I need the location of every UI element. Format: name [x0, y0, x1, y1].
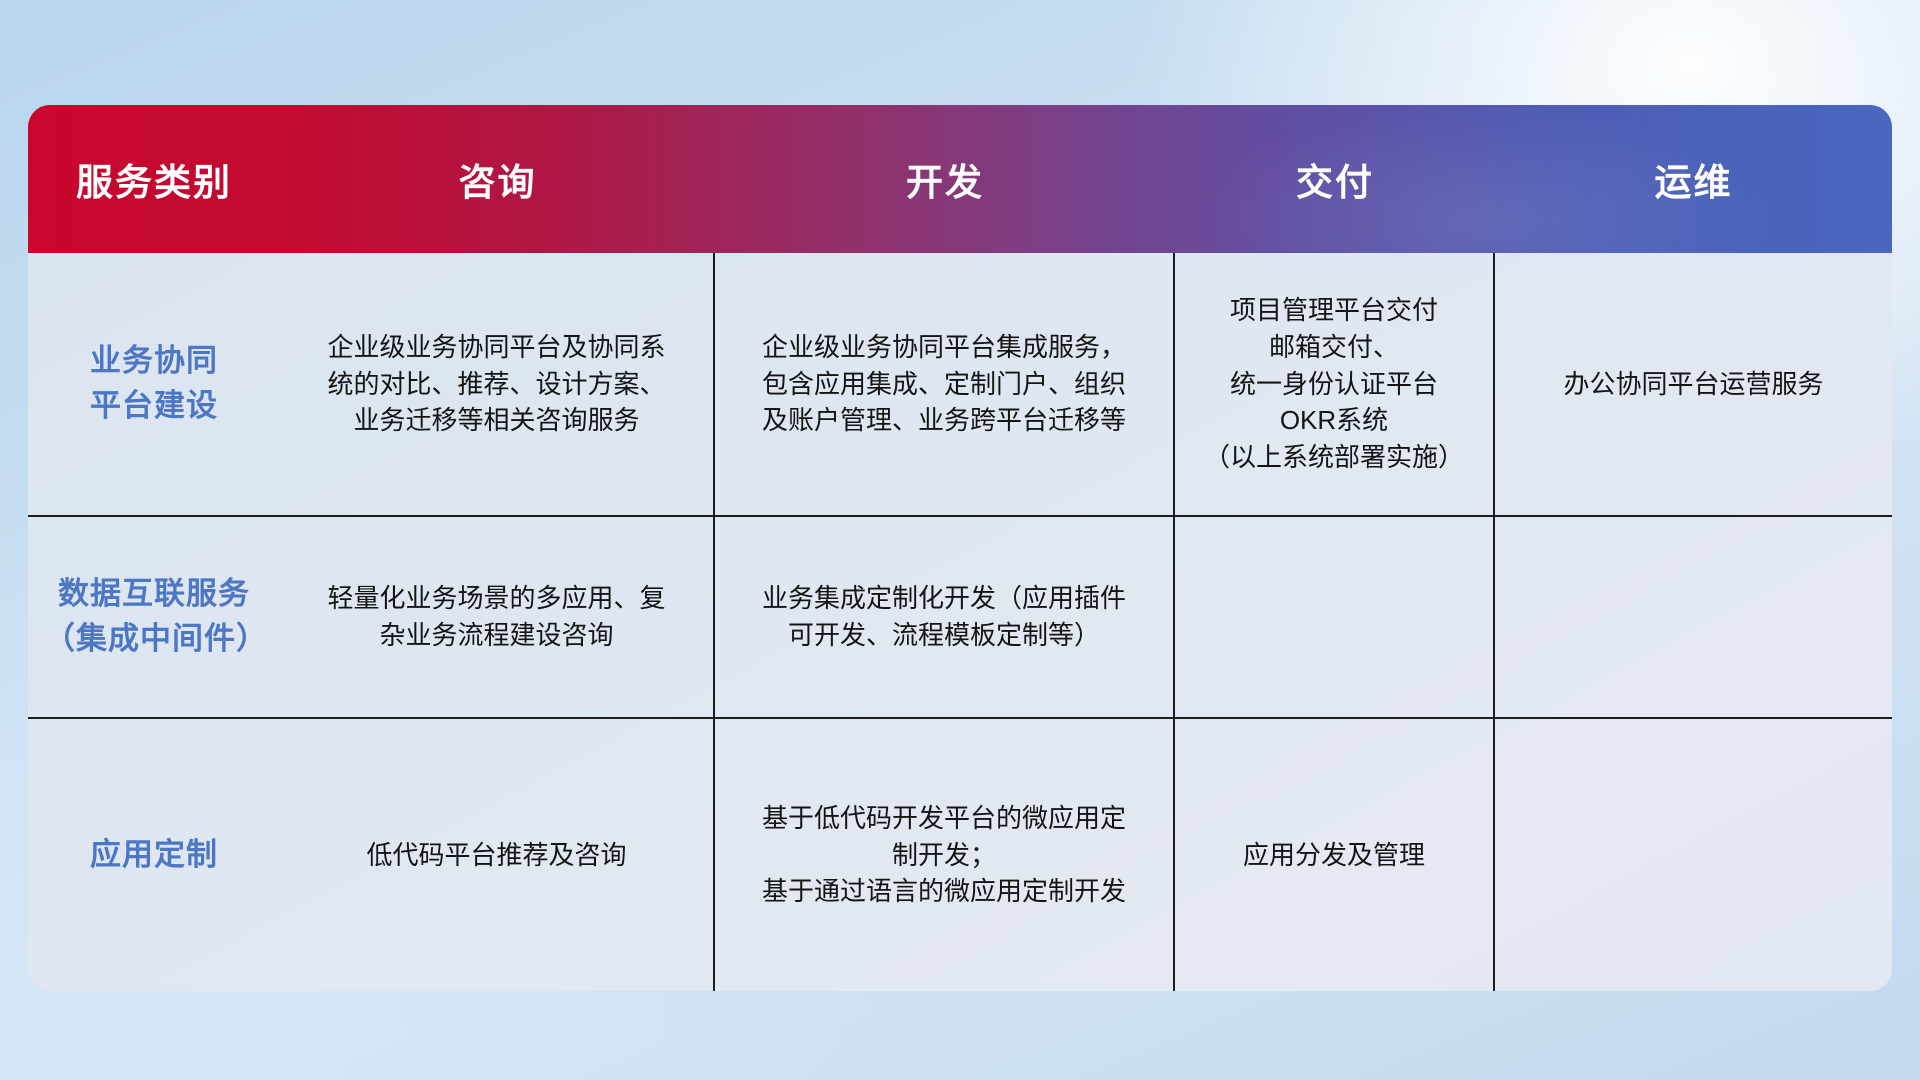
cell-delivery	[1175, 517, 1495, 717]
table-row: 数据互联服务 （集成中间件） 轻量化业务场景的多应用、复 杂业务流程建设咨询 业…	[28, 517, 1892, 719]
table-header-row: 服务类别 咨询 开发 交付 运维	[28, 105, 1892, 253]
cell-delivery: 项目管理平台交付 邮箱交付、 统一身份认证平台 OKR系统 （以上系统部署实施）	[1175, 253, 1495, 515]
column-header-service-category: 服务类别	[28, 105, 280, 253]
table-body: 业务协同 平台建设 企业级业务协同平台及协同系 统的对比、推荐、设计方案、 业务…	[28, 253, 1892, 991]
column-header-delivery: 交付	[1175, 105, 1495, 253]
cell-operations: 办公协同平台运营服务	[1495, 253, 1892, 515]
cell-delivery: 应用分发及管理	[1175, 719, 1495, 991]
cell-consulting: 低代码平台推荐及咨询	[280, 719, 715, 991]
column-header-label: 咨询	[459, 152, 537, 206]
cell-development: 企业级业务协同平台集成服务， 包含应用集成、定制门户、组织 及账户管理、业务跨平…	[715, 253, 1175, 515]
cell-consulting: 企业级业务协同平台及协同系 统的对比、推荐、设计方案、 业务迁移等相关咨询服务	[280, 253, 715, 515]
table-row: 业务协同 平台建设 企业级业务协同平台及协同系 统的对比、推荐、设计方案、 业务…	[28, 253, 1892, 517]
table-row: 应用定制 低代码平台推荐及咨询 基于低代码开发平台的微应用定 制开发； 基于通过…	[28, 719, 1892, 991]
column-header-development: 开发	[715, 105, 1175, 253]
cell-development: 业务集成定制化开发（应用插件 可开发、流程模板定制等）	[715, 517, 1175, 717]
row-category-label: 数据互联服务 （集成中间件）	[28, 517, 280, 717]
slide-canvas: 服务类别 咨询 开发 交付 运维 业务协同 平台建设 企业级业务协同平台及协同系…	[0, 0, 1920, 1080]
cell-consulting: 轻量化业务场景的多应用、复 杂业务流程建设咨询	[280, 517, 715, 717]
column-header-operations: 运维	[1495, 105, 1892, 253]
cell-operations	[1495, 517, 1892, 717]
column-header-consulting: 咨询	[280, 105, 715, 253]
cell-development: 基于低代码开发平台的微应用定 制开发； 基于通过语言的微应用定制开发	[715, 719, 1175, 991]
column-header-label: 开发	[906, 152, 984, 206]
column-header-label: 运维	[1655, 152, 1733, 206]
column-header-label: 交付	[1296, 152, 1374, 206]
cell-operations	[1495, 719, 1892, 991]
row-category-label: 业务协同 平台建设	[28, 253, 280, 515]
column-header-label: 服务类别	[76, 152, 232, 206]
service-matrix-table: 服务类别 咨询 开发 交付 运维 业务协同 平台建设 企业级业务协同平台及协同系…	[28, 105, 1892, 991]
row-category-label: 应用定制	[28, 719, 280, 991]
